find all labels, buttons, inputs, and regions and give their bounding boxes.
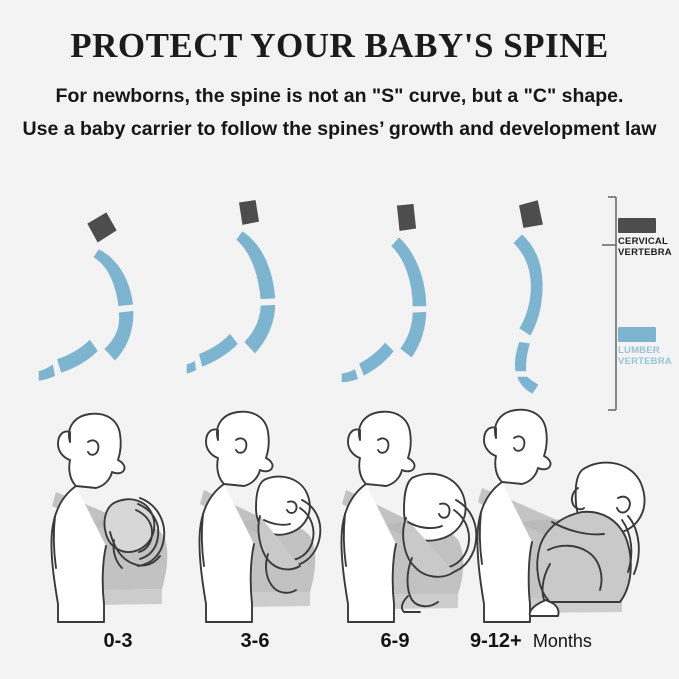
spine-diagram-row xyxy=(0,190,679,415)
spine-diagram-0-3 xyxy=(35,190,185,415)
legend-cervical-label: CERVICAL VERTEBRA xyxy=(618,236,679,258)
legend-cervical-label-line-2: VERTEBRA xyxy=(618,247,672,258)
thoracic-segment-upper xyxy=(91,247,135,308)
lumbar-segment xyxy=(513,340,532,373)
mother-head xyxy=(484,410,551,484)
thoracic-segment-upper xyxy=(234,229,277,301)
legend-cervical: CERVICAL VERTEBRA xyxy=(618,218,679,258)
age-label-3-6-text: 3-6 xyxy=(241,630,270,652)
legend-cervical-label-line-1: CERVICAL xyxy=(618,236,668,247)
legend-lumber-label-line-1: LUMBER xyxy=(618,345,660,356)
age-label-6-9: 6-9 xyxy=(340,630,450,653)
cervical-segment xyxy=(85,210,119,245)
spine-diagram-6-9 xyxy=(325,190,475,415)
cervical-segment xyxy=(517,198,545,230)
thoracic-segment-upper xyxy=(511,232,544,338)
sacrum-segment xyxy=(185,357,198,376)
spine-diagram-9-12 xyxy=(465,190,615,415)
age-label-3-6: 3-6 xyxy=(200,630,310,653)
infographic-poster: PROTECT YOUR BABY'S SPINE For newborns, … xyxy=(0,0,679,679)
cervical-segment xyxy=(237,198,261,227)
legend-lumber-swatch xyxy=(618,327,656,342)
carrier-waistband xyxy=(96,589,162,605)
carrier-figure-0-3 xyxy=(18,404,193,626)
lumbar-segment xyxy=(55,337,100,375)
thoracic-segment-upper xyxy=(389,235,428,308)
subtitle-line-2: Use a baby carrier to follow the spines’… xyxy=(0,118,679,141)
legend-cervical-swatch xyxy=(618,218,656,233)
thoracic-segment-lower xyxy=(398,310,428,360)
sacrum-segment xyxy=(37,361,57,383)
mother-head xyxy=(206,412,273,486)
carrier-figure-9-12 xyxy=(442,404,652,626)
age-label-0-3-text: 0-3 xyxy=(104,630,133,652)
sacrum-segment xyxy=(340,366,360,384)
mother-body xyxy=(477,482,532,622)
age-label-9-12-text: 9-12+ xyxy=(470,630,522,652)
legend-lumber: LUMBER VERTEBRA xyxy=(618,327,679,367)
age-label-9-12: 9-12+ Months xyxy=(470,630,670,653)
carrier-waistband xyxy=(244,592,310,607)
age-label-unit: Months xyxy=(533,631,592,651)
spine-diagram-3-6 xyxy=(185,190,335,415)
legend-lumber-label: LUMBER VERTEBRA xyxy=(618,345,679,367)
lumbar-segment xyxy=(197,331,240,369)
mother-body xyxy=(51,486,106,622)
page-title: PROTECT YOUR BABY'S SPINE xyxy=(0,26,679,66)
lumbar-segment xyxy=(357,340,396,378)
age-label-6-9-text: 6-9 xyxy=(381,630,410,652)
mother-head xyxy=(348,412,415,486)
mother-body xyxy=(199,484,254,622)
mother-body xyxy=(341,484,396,622)
mother-head xyxy=(58,414,125,488)
sacrum-segment xyxy=(515,375,541,396)
thoracic-segment-lower xyxy=(242,303,277,356)
subtitle-line-1: For newborns, the spine is not an "S" cu… xyxy=(0,85,679,108)
legend-lumber-label-line-2: VERTEBRA xyxy=(618,356,672,367)
cervical-segment xyxy=(395,202,418,233)
thoracic-segment-lower xyxy=(102,309,135,363)
carrier-figures-row xyxy=(0,404,679,626)
age-label-0-3: 0-3 xyxy=(63,630,173,653)
baby-head xyxy=(104,499,154,552)
